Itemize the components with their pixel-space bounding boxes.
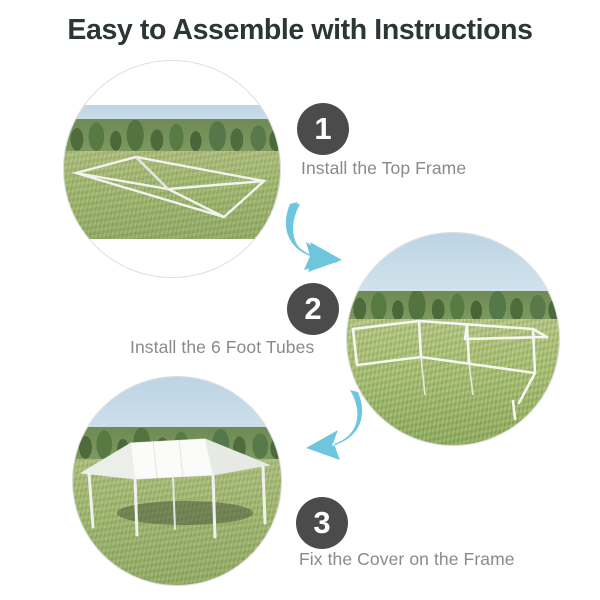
photo-frame-standing-on-legs: [347, 233, 559, 445]
arrow-step2-to-step3: [288, 386, 372, 466]
step-badge-3: 3: [296, 497, 348, 549]
step-badge-2: 2: [287, 283, 339, 335]
page-title: Easy to Assemble with Instructions: [0, 14, 600, 47]
photo-2-frame-tubes: [347, 233, 559, 445]
arrow-step1-to-step2: [276, 198, 358, 276]
step-label-2: Install the 6 Foot Tubes: [130, 337, 314, 358]
step-badge-1: 1: [297, 103, 349, 155]
photo-2-content: [347, 233, 559, 445]
step-label-3: Fix the Cover on the Frame: [299, 549, 515, 570]
step-label-1: Install the Top Frame: [301, 158, 466, 179]
instruction-infographic: Easy to Assemble with Instructions: [0, 0, 600, 600]
photo-finished-canopy-with-cover: [73, 377, 281, 585]
photo-top-frame-laid-on-grass: [64, 61, 280, 277]
photo-1-letterbox-bottom: [64, 241, 280, 277]
photo-3-canopy-tent: [73, 377, 281, 585]
photo-3-content: [73, 377, 281, 585]
photo-1-content: [64, 61, 280, 277]
